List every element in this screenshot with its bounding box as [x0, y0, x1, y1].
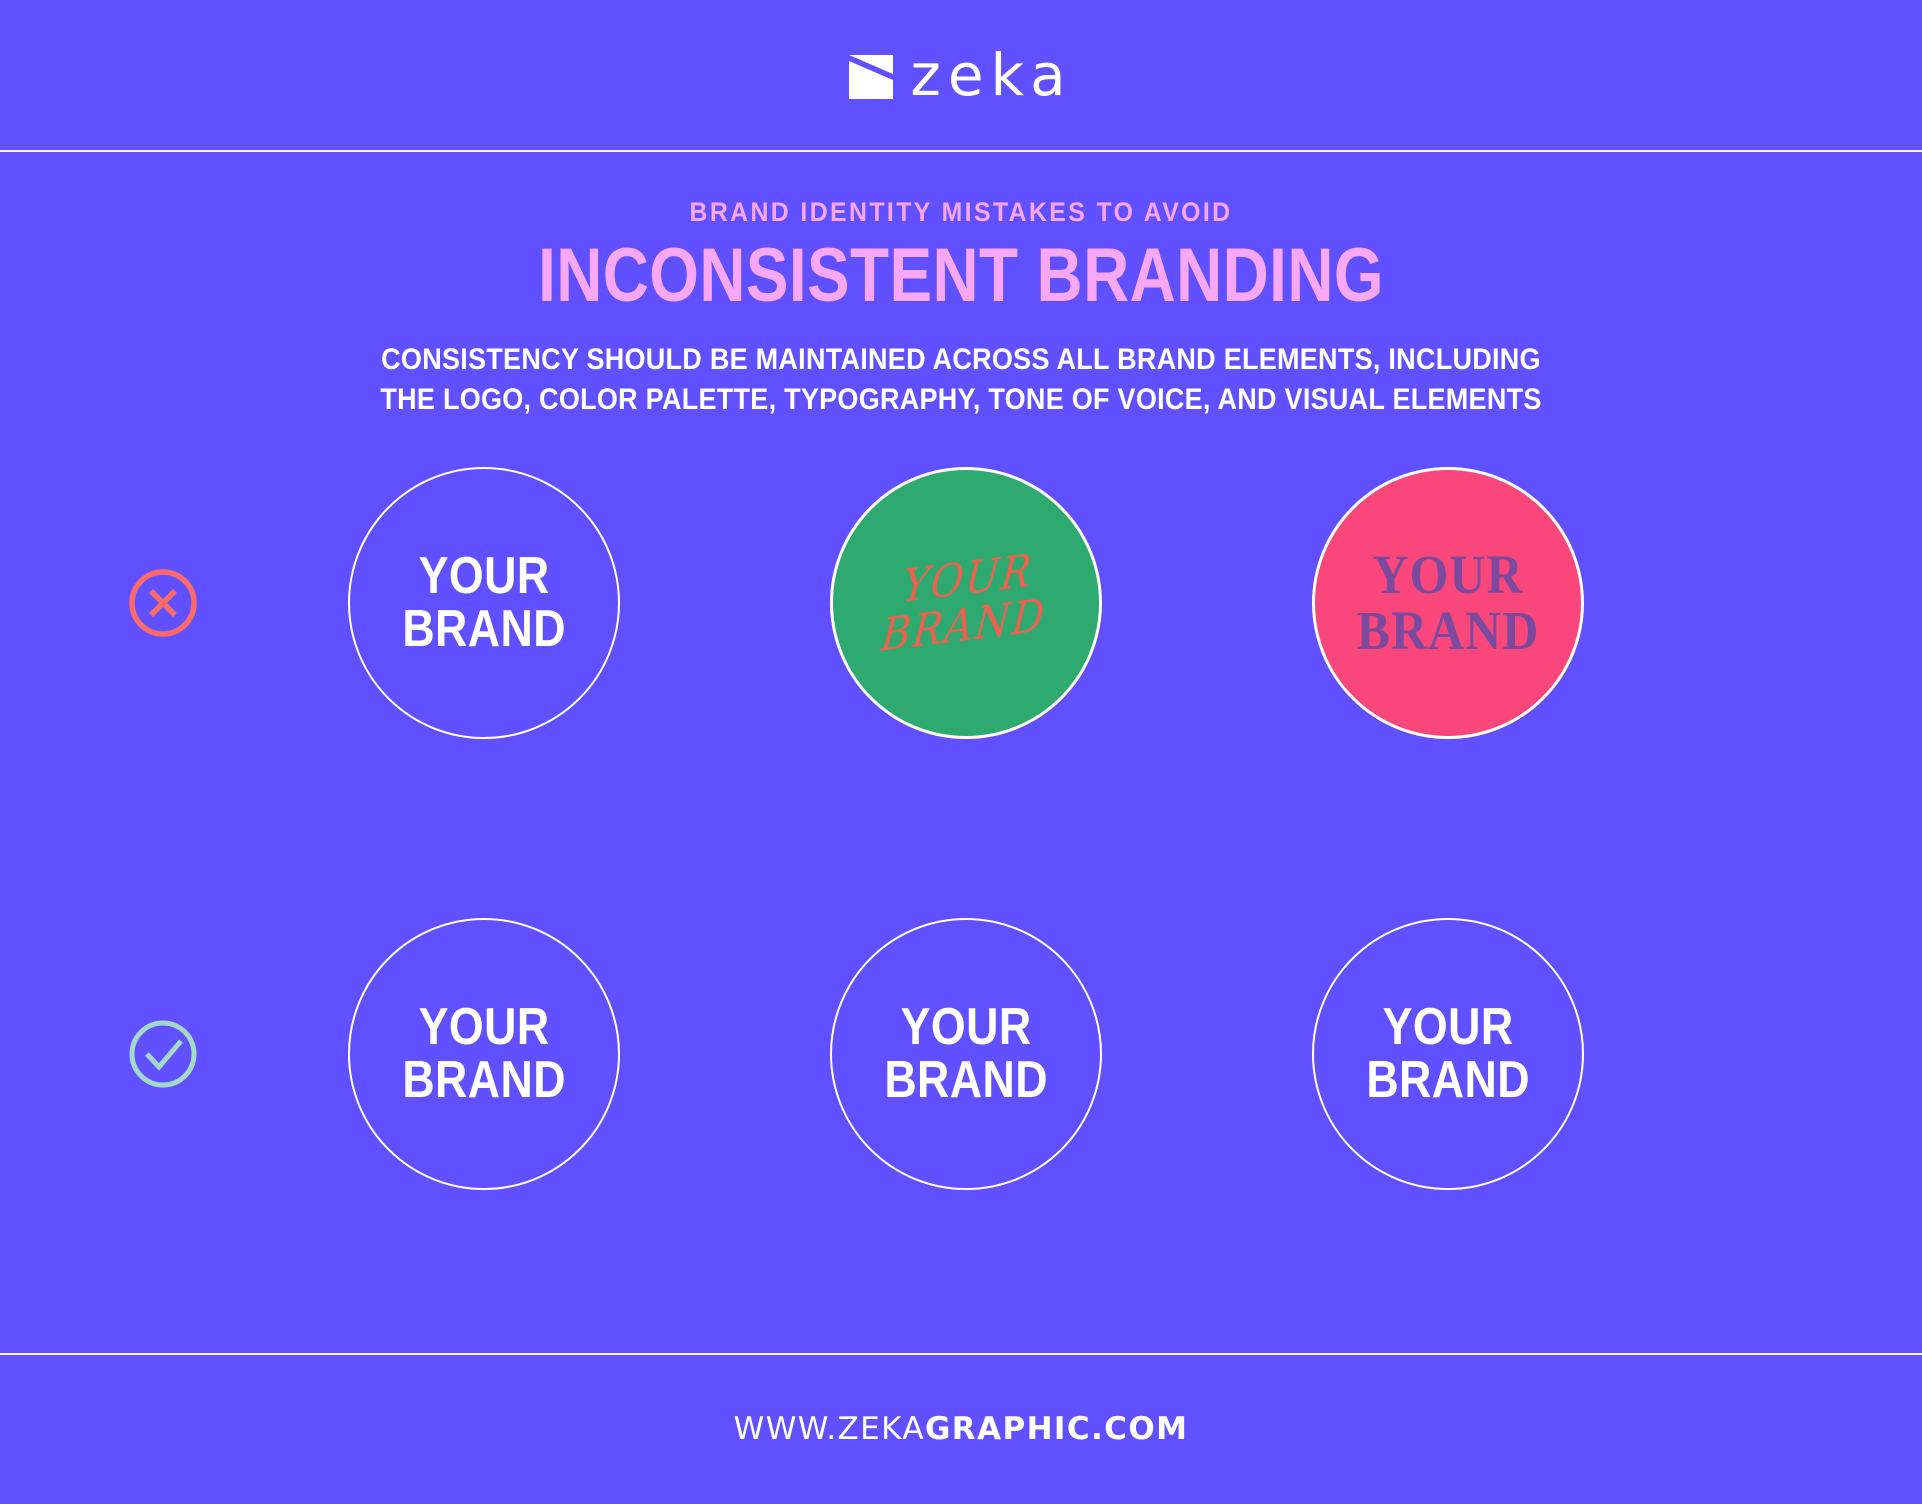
page-title: INCONSISTENT BRANDING [154, 236, 1768, 316]
brand-circle-2: YOUR BRAND [830, 467, 1102, 739]
header: zeka [0, 0, 1922, 150]
x-circle-icon [127, 567, 199, 639]
brand-label: YOUR BRAND [1366, 1001, 1530, 1107]
subtitle-line-2: THE LOGO, COLOR PALETTE, TYPOGRAPHY, TON… [96, 380, 1826, 420]
subtitle-description: CONSISTENCY SHOULD BE MAINTAINED ACROSS … [96, 340, 1826, 419]
subtitle-line-1: CONSISTENCY SHOULD BE MAINTAINED ACROSS … [96, 340, 1826, 380]
website-url[interactable]: WWW.ZEKAGRAPHIC.COM [734, 1411, 1189, 1447]
brand-label: YOUR BRAND [884, 1001, 1048, 1107]
zeka-logo-text: zeka [910, 46, 1072, 104]
brand-label: YOUR BRAND [1357, 547, 1540, 659]
brand-label: YOUR BRAND [880, 546, 1052, 659]
zeka-logo: zeka [849, 48, 1072, 106]
infographic-page: zeka BRAND IDENTITY MISTAKES TO AVOID IN… [0, 0, 1922, 1504]
brand-circle-6: YOUR BRAND [1312, 918, 1584, 1190]
divider-top [0, 150, 1922, 152]
brand-circle-1: YOUR BRAND [348, 467, 620, 739]
brand-circle-4: YOUR BRAND [348, 918, 620, 1190]
footer: WWW.ZEKAGRAPHIC.COM [0, 1353, 1922, 1504]
brand-label: YOUR BRAND [402, 550, 566, 656]
brand-label: YOUR BRAND [402, 1001, 566, 1107]
url-domain-light: WWW.ZEKA [734, 1411, 925, 1447]
inconsistent-row: YOUR BRAND YOUR BRAND YOUR BRAND [0, 454, 1922, 754]
url-domain-bold: GRAPHIC.COM [925, 1411, 1188, 1447]
brand-circle-3: YOUR BRAND [1312, 467, 1584, 739]
zeka-logo-mark-icon [849, 55, 893, 99]
eyebrow-label: BRAND IDENTITY MISTAKES TO AVOID [77, 197, 1845, 228]
brand-circle-5: YOUR BRAND [830, 918, 1102, 1190]
check-circle-icon [127, 1018, 199, 1090]
consistent-row: YOUR BRAND YOUR BRAND YOUR BRAND [0, 905, 1922, 1205]
